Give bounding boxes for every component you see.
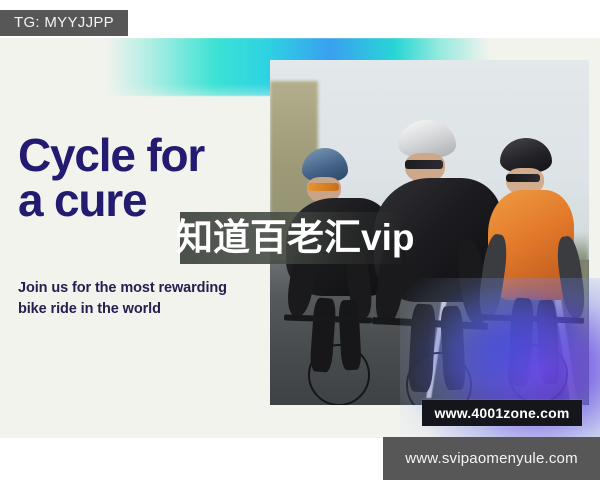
overlay-text-cjk: 知道百老汇	[176, 216, 361, 259]
watermark-svipaomenyule-label: www.svipaomenyule.com	[405, 450, 578, 467]
watermark-4001zone-label: www.4001zone.com	[435, 405, 570, 421]
subtitle-line-1: Join us for the most rewarding	[18, 280, 227, 296]
page-title: Cycle for a cure	[18, 133, 268, 223]
tg-banner: TG: MYYJJPP	[0, 10, 128, 36]
sunglasses-left	[308, 183, 339, 191]
watermark-svipaomenyule: www.svipaomenyule.com	[383, 437, 600, 480]
arm-right-b	[554, 235, 587, 319]
subtitle-line-2: bike ride in the world	[18, 301, 161, 317]
overlay-text-latin: vip	[361, 217, 414, 258]
sunglasses-center	[405, 160, 443, 169]
screenshot-root: Cycle for a cure Join us for the most re…	[0, 0, 600, 480]
sunglasses-right	[506, 174, 540, 182]
watermark-4001zone: www.4001zone.com	[422, 400, 582, 426]
tg-banner-label: TG: MYYJJPP	[14, 14, 114, 31]
cyclist-right	[482, 138, 589, 400]
poster-subtitle: Join us for the most rewarding bike ride…	[18, 278, 253, 320]
wheel-right	[508, 344, 568, 404]
overlay-text: 知道百老汇vip	[176, 216, 414, 260]
wheel-left	[308, 344, 370, 405]
